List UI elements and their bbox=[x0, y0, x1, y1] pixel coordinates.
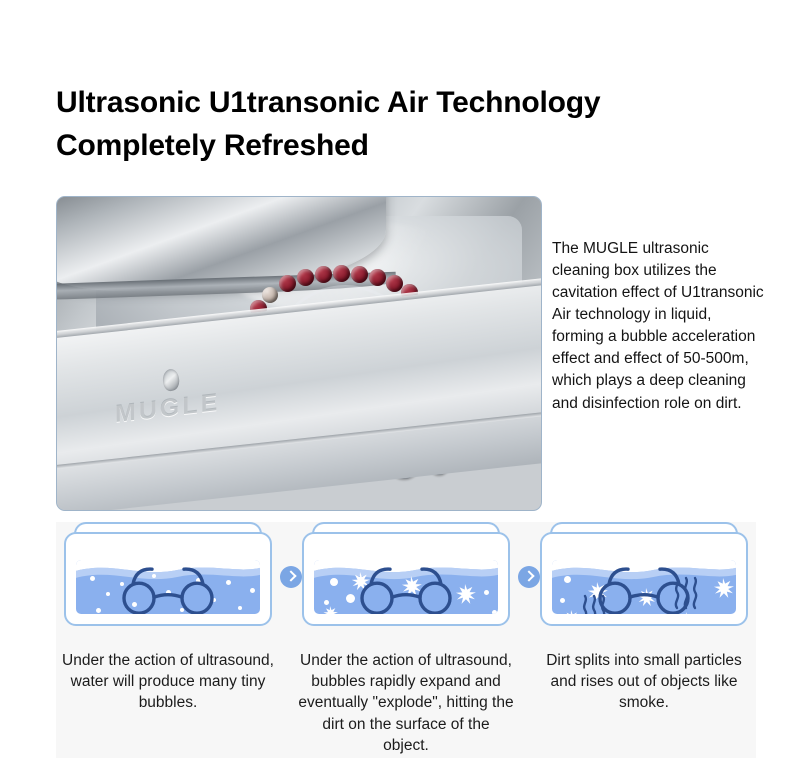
bubble bbox=[484, 590, 489, 595]
step-2-illustration bbox=[302, 522, 510, 626]
eyeglasses-icon bbox=[582, 562, 706, 614]
eyeglasses-icon bbox=[344, 562, 468, 614]
page-title-line-1: Ultrasonic U1transonic Air Technology bbox=[56, 82, 756, 125]
process-steps-section: Under the action of ultrasound, water wi… bbox=[56, 522, 756, 758]
dirt-particle-icon bbox=[712, 578, 734, 600]
tank-icon bbox=[302, 522, 510, 626]
bubble bbox=[330, 578, 338, 586]
step-arrow-2[interactable] bbox=[518, 566, 540, 588]
tank-body bbox=[540, 532, 748, 626]
tank-water bbox=[314, 560, 498, 614]
tank-water bbox=[76, 560, 260, 614]
page-title-line-2: Completely Refreshed bbox=[56, 125, 756, 168]
step-1-illustration bbox=[64, 522, 272, 626]
bubble bbox=[560, 598, 565, 603]
hero-description: The MUGLE ultrasonic cleaning box utiliz… bbox=[552, 238, 764, 415]
tank-icon bbox=[540, 522, 748, 626]
product-photo-scene: MUGLE bbox=[57, 197, 541, 510]
bubble bbox=[96, 608, 101, 613]
bubble bbox=[90, 576, 95, 581]
step-1-caption: Under the action of ultrasound, water wi… bbox=[60, 650, 276, 714]
step-2-caption: Under the action of ultrasound, bubbles … bbox=[298, 650, 514, 757]
step-arrow-1[interactable] bbox=[280, 566, 302, 588]
bubble bbox=[324, 600, 329, 605]
dirt-particle-icon bbox=[562, 610, 580, 614]
step-3-caption: Dirt splits into small particles and ris… bbox=[536, 650, 752, 714]
hero-section: MUGLE The MUGLE ultrasonic cleaning box … bbox=[56, 196, 756, 512]
bubble bbox=[492, 610, 497, 614]
product-photo: MUGLE bbox=[56, 196, 542, 511]
tank-water bbox=[552, 560, 736, 614]
step-3-illustration bbox=[540, 522, 748, 626]
bubble bbox=[564, 576, 571, 583]
bubble bbox=[238, 606, 242, 610]
process-steps-illustration-row bbox=[56, 522, 756, 626]
tank-icon bbox=[64, 522, 272, 626]
bubble bbox=[250, 588, 255, 593]
tank-body bbox=[302, 532, 510, 626]
eyeglasses-icon bbox=[106, 562, 230, 614]
tank-body bbox=[64, 532, 272, 626]
bubble-burst-icon bbox=[322, 606, 338, 614]
page-title: Ultrasonic U1transonic Air Technology Co… bbox=[56, 82, 756, 167]
